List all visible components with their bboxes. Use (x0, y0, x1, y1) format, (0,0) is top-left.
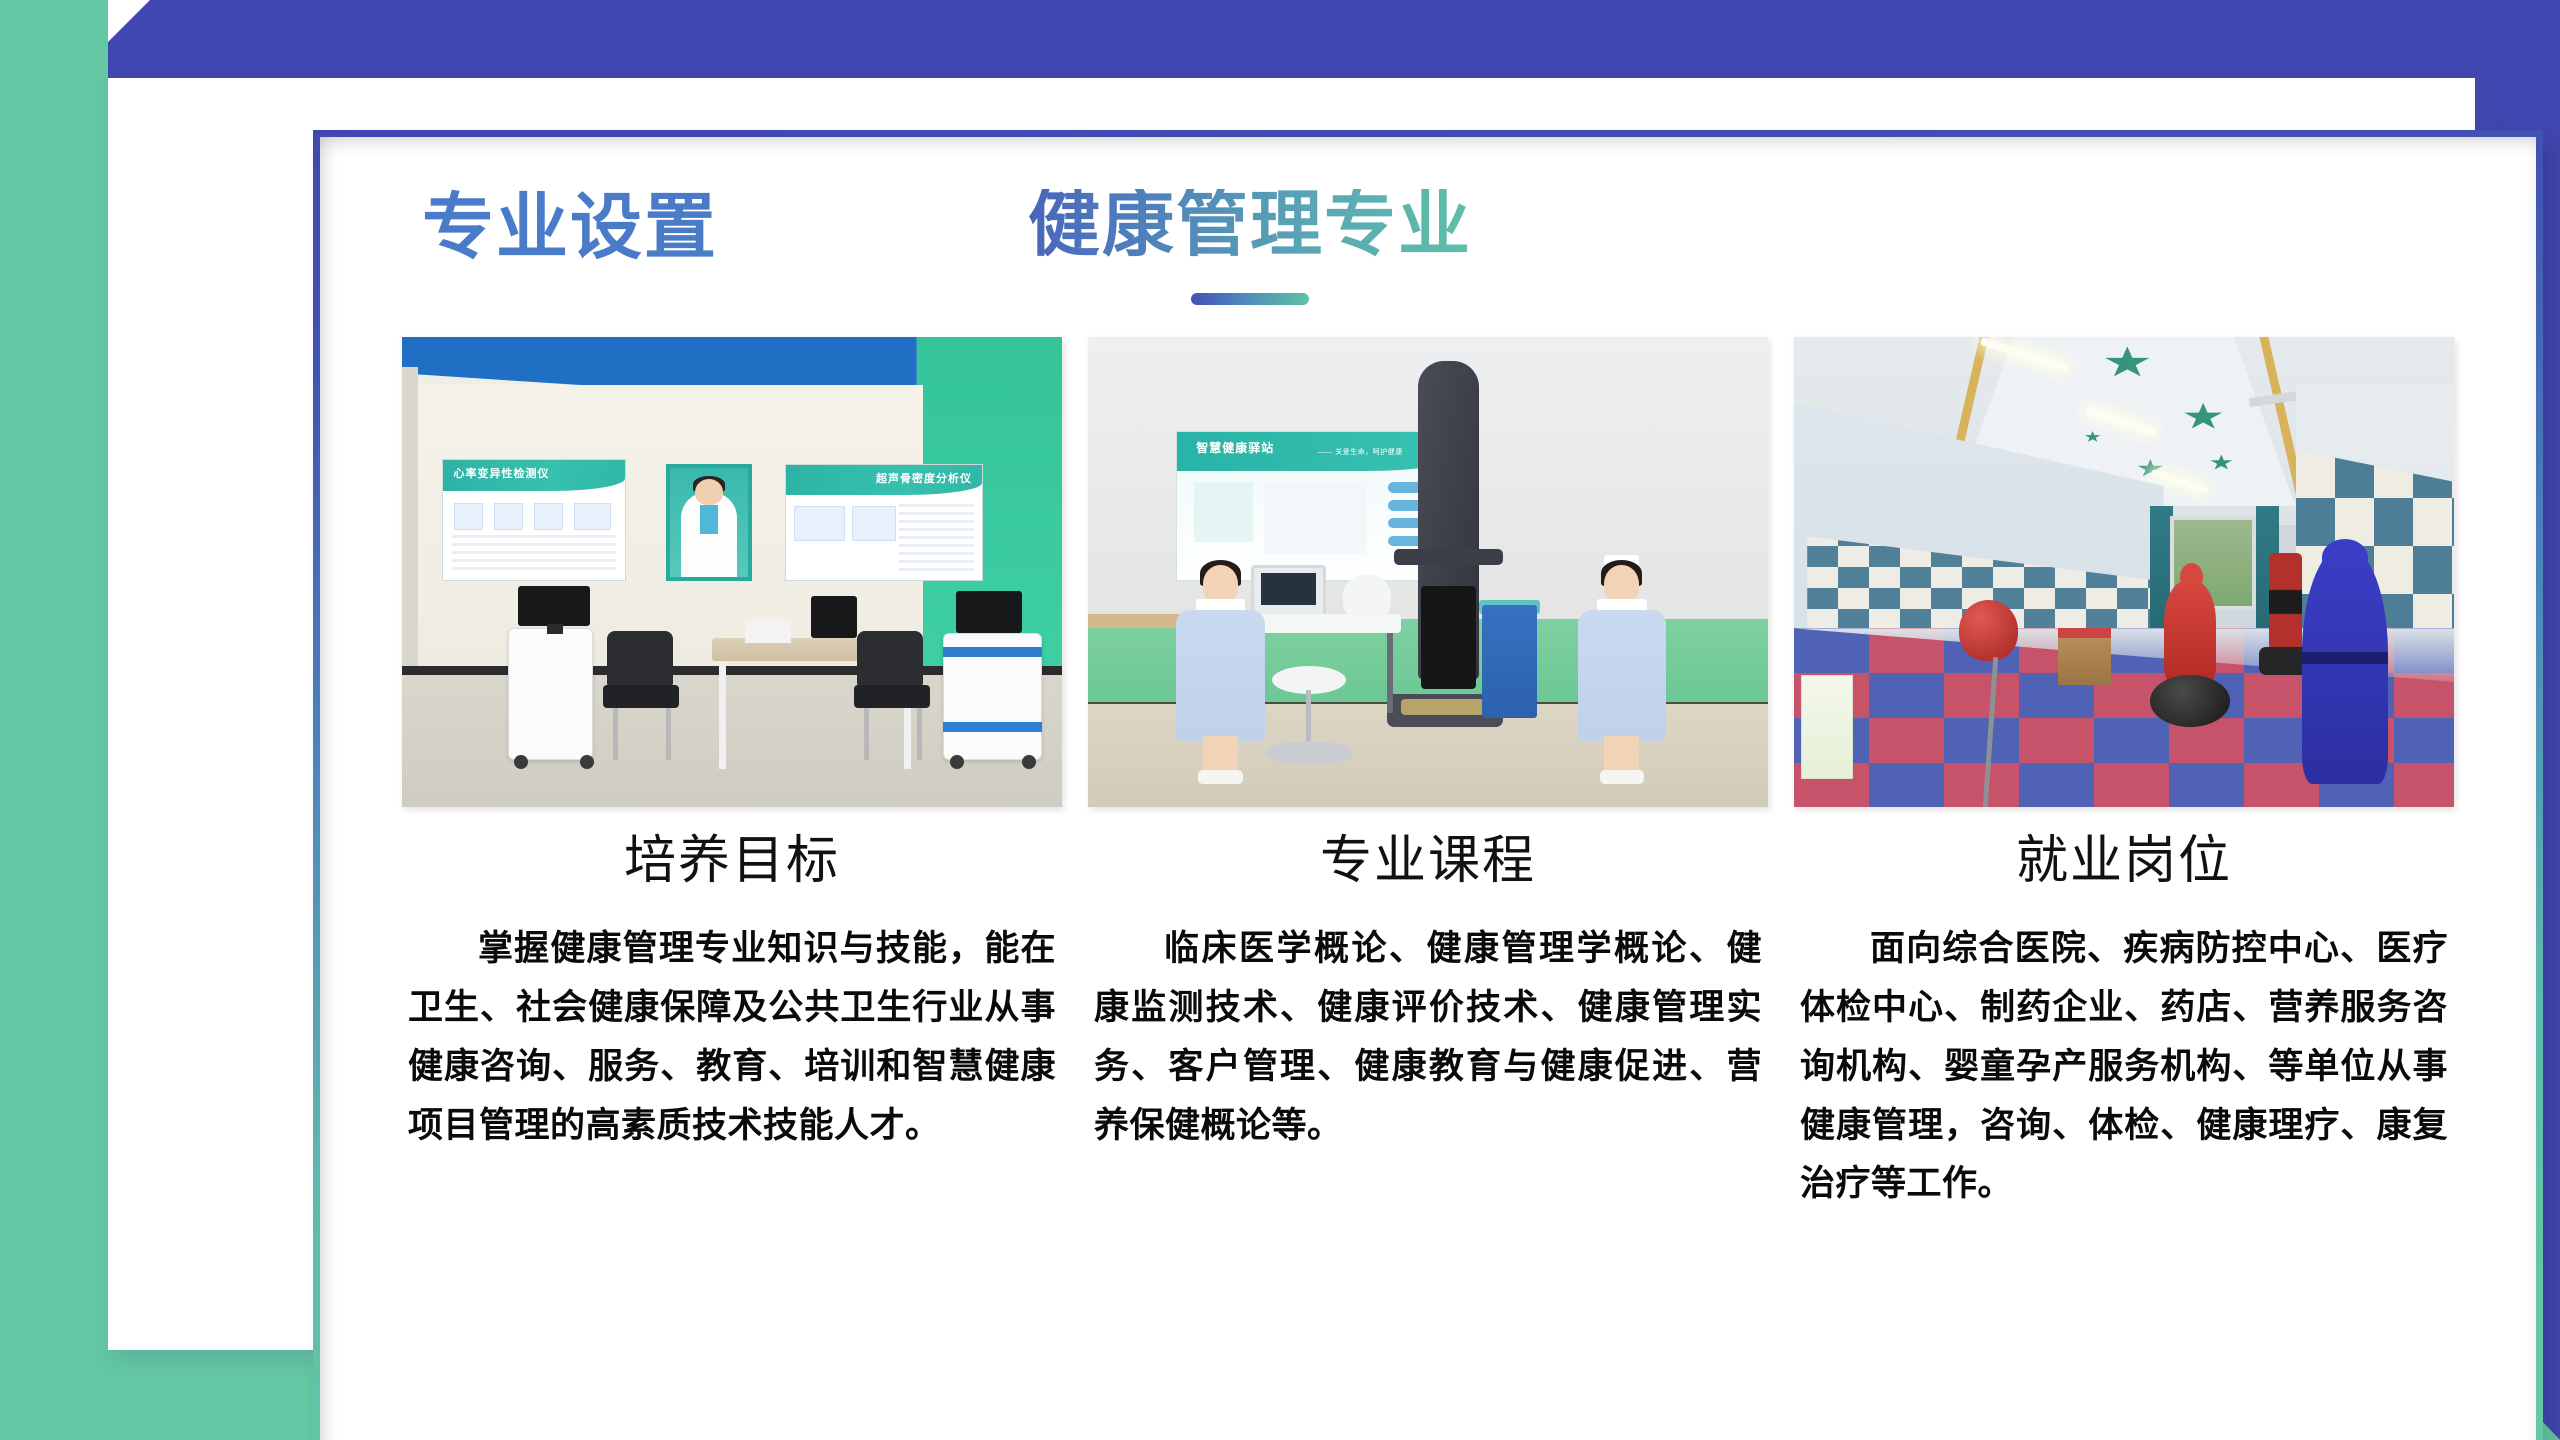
kiosk-weight-plate (1401, 699, 1489, 715)
content-panel: 专业设置 健康管理专业 (320, 137, 2536, 1440)
monitor-desk (811, 596, 857, 638)
kiosk-display (1421, 586, 1475, 689)
frame-left-green-band (0, 0, 108, 1440)
column-courses: 智慧健康驿站 —— 关爱生命，呵护健康 (1088, 337, 1768, 1214)
slide-white-card: 专业设置 健康管理专业 (108, 78, 2475, 1350)
medical-waste-bin (1482, 605, 1536, 718)
poster-doctor-portrait (666, 464, 752, 582)
speed-ball (1959, 600, 2018, 661)
column-heading-cultivation-goal: 培养目标 (402, 833, 1062, 890)
column-employment: 就业岗位 面向综合医院、疾病防控中心、医疗体检中心、制药企业、药店、营养服务咨询… (1794, 337, 2454, 1214)
column-body-employment: 面向综合医院、疾病防控中心、医疗体检中心、制药企业、药店、营养服务咨询机构、婴童… (1794, 920, 2454, 1214)
content-gradient-frame: 专业设置 健康管理专业 (313, 130, 2543, 1440)
office-chair-left (607, 631, 673, 687)
photo-venting-room (1794, 337, 2454, 807)
poster-bone-density-analyzer: 超声骨密度分析仪 (785, 464, 983, 582)
section-title: 健康管理专业 (940, 189, 1560, 261)
column-cultivation-goal: 心率变异性检测仪 (402, 337, 1062, 1214)
red-punching-dummy (2164, 581, 2217, 684)
punching-bag (2269, 553, 2302, 656)
kiosk-height-arm (1394, 549, 1503, 565)
blue-punching-dummy (2302, 549, 2388, 784)
side-table (1088, 614, 1183, 628)
page-title: 专业设置 (422, 192, 718, 264)
poster-hrv-detector: 心率变异性检测仪 (442, 459, 627, 581)
monitor-left (518, 586, 591, 626)
student-right (1578, 520, 1666, 783)
column-body-courses: 临床医学概论、健康管理学概论、健康监测技术、健康评价技术、健康管理实务、客户管理… (1088, 920, 1768, 1155)
section-title-wrap: 健康管理专业 (940, 189, 1560, 305)
column-body-cultivation-goal: 掌握健康管理专业知识与技能，能在卫生、社会健康保障及公共卫生行业从事健康咨询、服… (402, 920, 1062, 1155)
photo-health-exam-lab: 心率变异性检测仪 (402, 337, 1062, 807)
column-heading-courses: 专业课程 (1088, 833, 1768, 890)
storage-box (2058, 638, 2111, 685)
student-left (1176, 520, 1264, 783)
column-heading-employment: 就业岗位 (1794, 833, 2454, 890)
title-row: 专业设置 健康管理专业 (320, 137, 2536, 367)
office-chair-right (857, 631, 923, 687)
wall-notice-board (1801, 675, 1854, 778)
equipment-cart-hrv (508, 628, 594, 760)
section-title-underline (1191, 293, 1309, 305)
photo-smart-health-station: 智慧健康驿站 —— 关爱生命，呵护健康 (1088, 337, 1768, 807)
frame-top-blue-band (0, 0, 2560, 78)
slide-canvas: 专业设置 健康管理专业 (0, 0, 2560, 1440)
blood-pressure-cuff (1343, 574, 1391, 616)
monitor-right (956, 591, 1022, 633)
content-columns: 心率变异性检测仪 (320, 337, 2536, 1214)
